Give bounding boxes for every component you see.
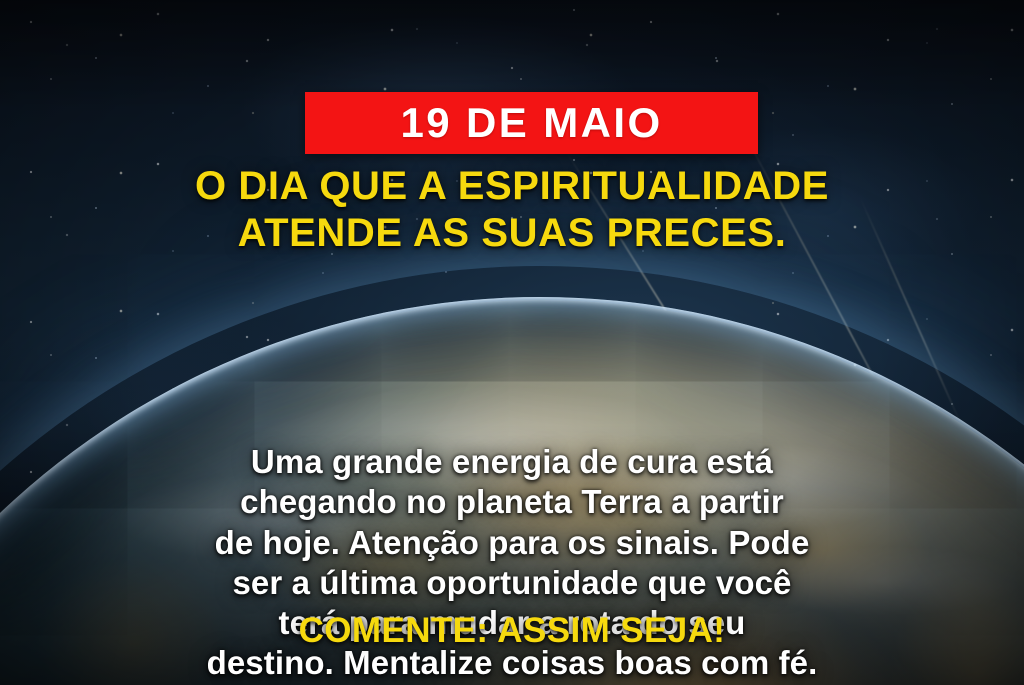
date-banner: 19 DE MAIO bbox=[305, 92, 758, 154]
body-line-4: ser a última oportunidade que você bbox=[42, 563, 982, 603]
text-content-layer: 19 DE MAIO O DIA QUE A ESPIRITUALIDADE A… bbox=[0, 0, 1024, 685]
headline: O DIA QUE A ESPIRITUALIDADE ATENDE AS SU… bbox=[32, 163, 992, 257]
headline-line-2: ATENDE AS SUAS PRECES. bbox=[32, 210, 992, 257]
body-line-1: Uma grande energia de cura está bbox=[42, 442, 982, 482]
body-line-2: chegando no planeta Terra a partir bbox=[42, 482, 982, 522]
poster-canvas: 19 DE MAIO O DIA QUE A ESPIRITUALIDADE A… bbox=[0, 0, 1024, 685]
date-banner-label: 19 DE MAIO bbox=[400, 102, 662, 144]
headline-line-1: O DIA QUE A ESPIRITUALIDADE bbox=[195, 164, 829, 208]
call-to-action: COMENTE: ASSIM SEJA! bbox=[42, 612, 982, 651]
body-line-3: de hoje. Atenção para os sinais. Pode bbox=[42, 523, 982, 563]
call-to-action-label: COMENTE: ASSIM SEJA! bbox=[299, 611, 726, 650]
